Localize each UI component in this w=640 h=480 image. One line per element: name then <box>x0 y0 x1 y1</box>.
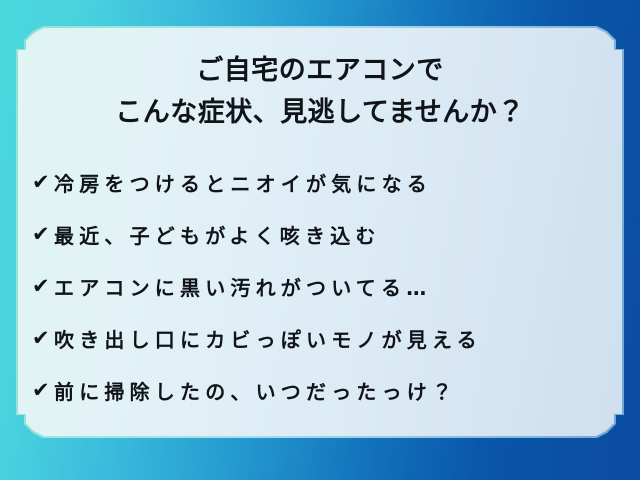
list-item: ✔ 前に掃除したの、いつだったっけ？ <box>32 364 622 416</box>
list-item: ✔ エアコンに黒い汚れがついてる… <box>32 260 622 312</box>
card-content: ご自宅のエアコンで こんな症状、見逃してませんか？ ✔ 冷房をつけるとニオイが気… <box>18 28 622 436</box>
headline-line-2: こんな症状、見逃してませんか？ <box>18 92 622 134</box>
check-icon: ✔ <box>32 380 54 401</box>
symptom-list: ✔ 冷房をつけるとニオイが気になる ✔ 最近、子どもがよく咳き込む ✔ エアコン… <box>18 134 622 416</box>
check-icon: ✔ <box>32 328 54 349</box>
list-item-label: 冷房をつけるとニオイが気になる <box>54 168 432 197</box>
check-icon: ✔ <box>32 172 54 193</box>
list-item: ✔ 最近、子どもがよく咳き込む <box>32 208 622 260</box>
list-item: ✔ 吹き出し口にカビっぽいモノが見える <box>32 312 622 364</box>
page-title: ご自宅のエアコンで こんな症状、見逃してませんか？ <box>18 28 622 134</box>
check-icon: ✔ <box>32 276 54 297</box>
poster-canvas: ご自宅のエアコンで こんな症状、見逃してませんか？ ✔ 冷房をつけるとニオイが気… <box>0 0 640 480</box>
headline-line-1: ご自宅のエアコンで <box>18 50 622 92</box>
list-item-label: 吹き出し口にカビっぽいモノが見える <box>54 324 482 353</box>
list-item-label: 最近、子どもがよく咳き込む <box>54 220 381 249</box>
check-icon: ✔ <box>32 224 54 245</box>
list-item-label: エアコンに黒い汚れがついてる… <box>54 272 431 301</box>
list-item: ✔ 冷房をつけるとニオイが気になる <box>32 156 622 208</box>
list-item-label: 前に掃除したの、いつだったっけ？ <box>54 376 457 405</box>
